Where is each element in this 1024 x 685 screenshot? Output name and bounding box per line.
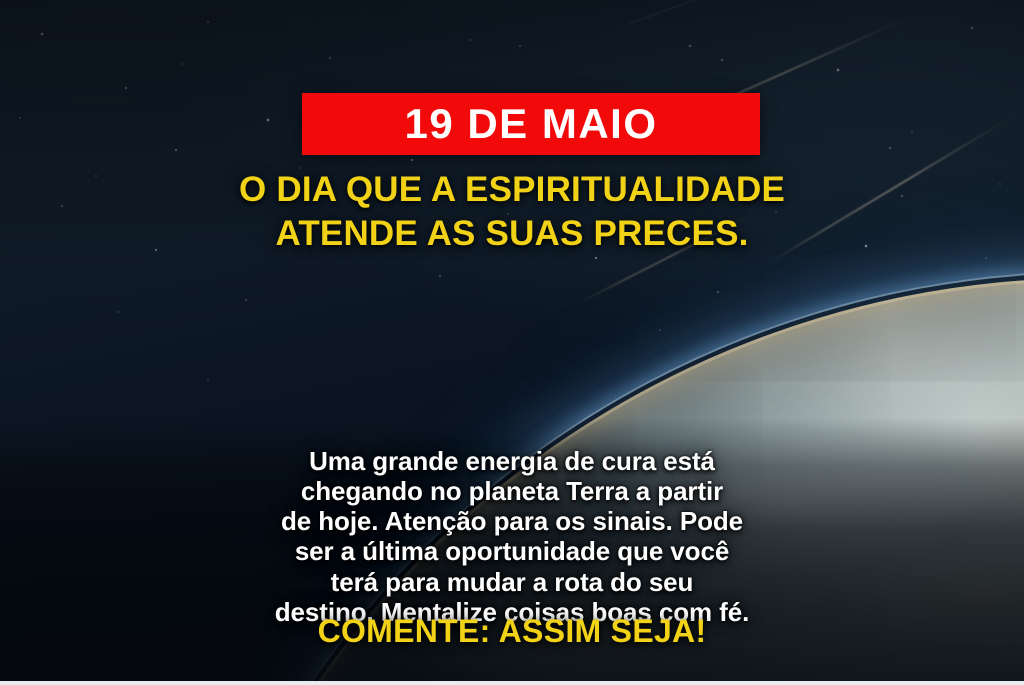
bottom-edge-strip bbox=[0, 681, 1024, 685]
headline: O DIA QUE A ESPIRITUALIDADE ATENDE AS SU… bbox=[0, 168, 1024, 256]
body-copy-line-4: ser a última oportunidade que você bbox=[0, 536, 1024, 566]
call-to-action-text: COMENTE: ASSIM SEJA! bbox=[0, 615, 1024, 647]
body-copy-line-2: chegando no planeta Terra a partir bbox=[0, 476, 1024, 506]
headline-line-2: ATENDE AS SUAS PRECES. bbox=[0, 212, 1024, 256]
body-copy-line-5: terá para mudar a rota do seu bbox=[0, 567, 1024, 597]
body-copy-line-1: Uma grande energia de cura está bbox=[0, 446, 1024, 476]
poster-canvas: 19 DE MAIO O DIA QUE A ESPIRITUALIDADE A… bbox=[0, 0, 1024, 685]
body-copy: Uma grande energia de cura está chegando… bbox=[0, 446, 1024, 627]
date-banner: 19 DE MAIO bbox=[302, 93, 760, 155]
headline-line-1: O DIA QUE A ESPIRITUALIDADE bbox=[0, 168, 1024, 212]
date-banner-text: 19 DE MAIO bbox=[404, 103, 657, 145]
poster-content: 19 DE MAIO O DIA QUE A ESPIRITUALIDADE A… bbox=[0, 0, 1024, 685]
body-copy-line-3: de hoje. Atenção para os sinais. Pode bbox=[0, 506, 1024, 536]
